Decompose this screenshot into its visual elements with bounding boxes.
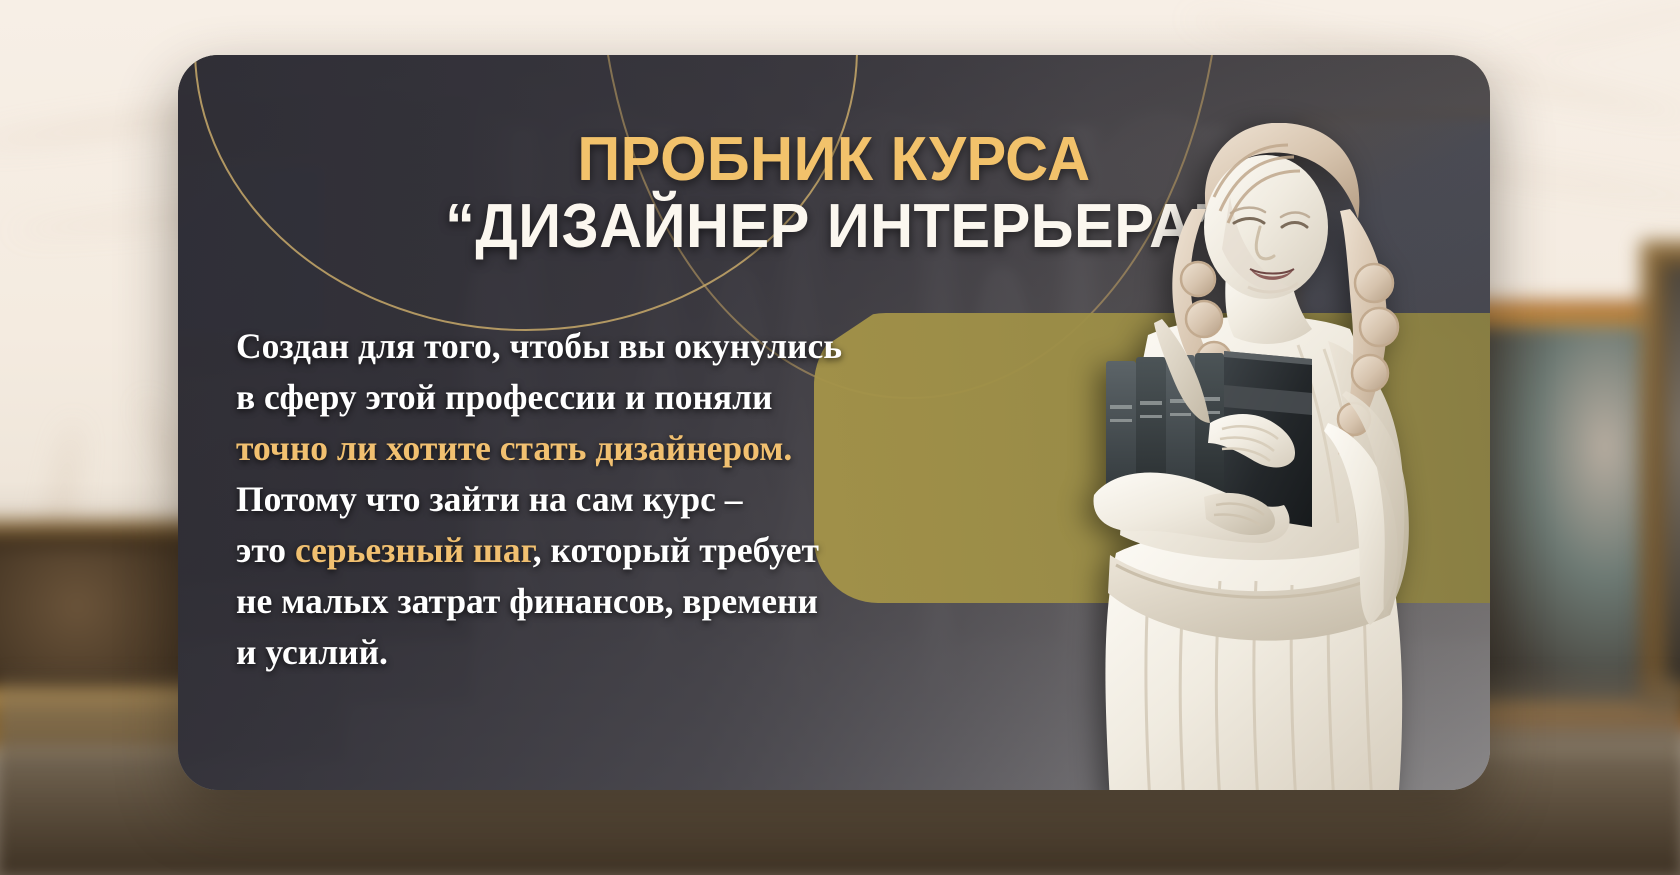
page-title: ПРОБНИК КУРСА “ДИЗАЙНЕР ИНТЕРЬЕРА” — [178, 128, 1490, 258]
body-copy-line-5: это серьезный шаг, который требует — [236, 525, 976, 576]
plain-text: не малых затрат финансов, времени — [236, 581, 818, 621]
title-line-2: “ДИЗАЙНЕР ИНТЕРЬЕРА” — [204, 195, 1464, 258]
promo-card: ПРОБНИК КУРСА “ДИЗАЙНЕР ИНТЕРЬЕРА” Созда… — [178, 55, 1490, 790]
body-copy-line-3: точно ли хотите стать дизайнером. — [236, 423, 976, 474]
poster-canvas: ПРОБНИК КУРСА “ДИЗАЙНЕР ИНТЕРЬЕРА” Созда… — [0, 0, 1680, 875]
body-copy-line-6: не малых затрат финансов, времени — [236, 576, 976, 627]
body-copy: Создан для того, чтобы вы окунулисьв сфе… — [236, 321, 976, 678]
plain-text: это — [236, 530, 295, 570]
body-copy-line-4: Потому что зайти на сам курс – — [236, 474, 976, 525]
title-line-1: ПРОБНИК КУРСА — [204, 128, 1464, 191]
accent-text: серьезный шаг — [295, 530, 533, 570]
plain-text: , который требует — [533, 530, 819, 570]
plain-text: и усилий. — [236, 632, 388, 672]
plain-text: в сферу этой профессии и поняли — [236, 377, 773, 417]
accent-text: точно ли хотите стать дизайнером. — [236, 428, 792, 468]
plain-text: Создан для того, чтобы вы окунулись — [236, 326, 842, 366]
body-copy-line-2: в сферу этой профессии и поняли — [236, 372, 976, 423]
body-copy-line-7: и усилий. — [236, 627, 976, 678]
background-framed-painting-far-right — [1640, 240, 1680, 710]
plain-text: Потому что зайти на сам курс – — [236, 479, 743, 519]
body-copy-line-1: Создан для того, чтобы вы окунулись — [236, 321, 976, 372]
